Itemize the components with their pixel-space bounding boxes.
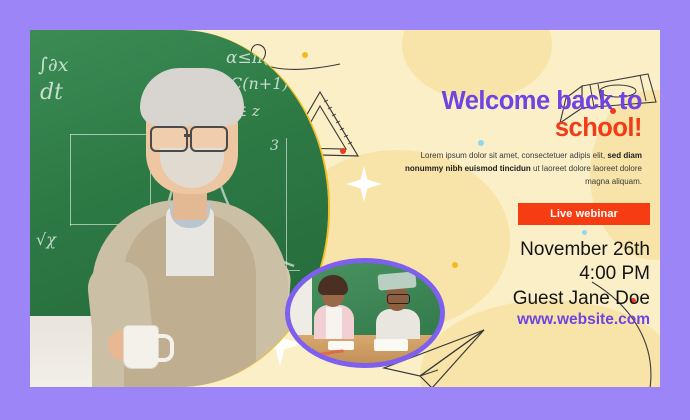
event-guest: Guest Jane Doe — [380, 287, 650, 311]
event-date: November 26th — [380, 238, 650, 262]
website-link[interactable]: www.website.com — [380, 311, 650, 329]
body-copy-part2: ut laoreet dolore laoreet dolore magna a… — [531, 164, 642, 186]
event-time: 4:00 PM — [380, 262, 650, 286]
chalk-line-left — [70, 134, 71, 226]
page-title: Welcome back to school! — [360, 88, 642, 141]
banner-card: ∫∂x d𝑡 α≤π(n) C(n+1) ∈ z 3 √χ — [30, 30, 660, 387]
live-webinar-button[interactable]: Live webinar — [518, 203, 650, 225]
dot-red-mid — [340, 148, 346, 154]
student-one-hair — [318, 275, 348, 295]
body-copy: Lorem ipsum dolor sit amet, consectetuer… — [402, 150, 642, 189]
banner-root: ∫∂x d𝑡 α≤π(n) C(n+1) ∈ z 3 √χ — [0, 0, 690, 420]
coffee-mug-handle — [156, 334, 174, 362]
event-details: November 26th 4:00 PM Guest Jane Doe — [380, 238, 650, 311]
teacher-hair — [140, 68, 244, 126]
headline-line-1: Welcome back to — [360, 88, 642, 115]
coffee-mug — [124, 326, 158, 368]
teacher-glasses-right — [190, 126, 228, 152]
headline-line-2: school! — [360, 115, 642, 142]
teacher-glasses-bridge — [184, 134, 192, 137]
body-copy-part1: Lorem ipsum dolor sit amet, consectetuer… — [421, 151, 608, 160]
student-one-shirt — [326, 307, 342, 339]
teacher-photo-image: ∫∂x d𝑡 α≤π(n) C(n+1) ∈ z 3 √χ — [30, 30, 328, 387]
teacher-photo: ∫∂x d𝑡 α≤π(n) C(n+1) ∈ z 3 √χ — [30, 30, 330, 387]
content-column: Welcome back to school! Lorem ipsum dolo… — [360, 30, 660, 387]
teacher-glasses-left — [150, 126, 188, 152]
